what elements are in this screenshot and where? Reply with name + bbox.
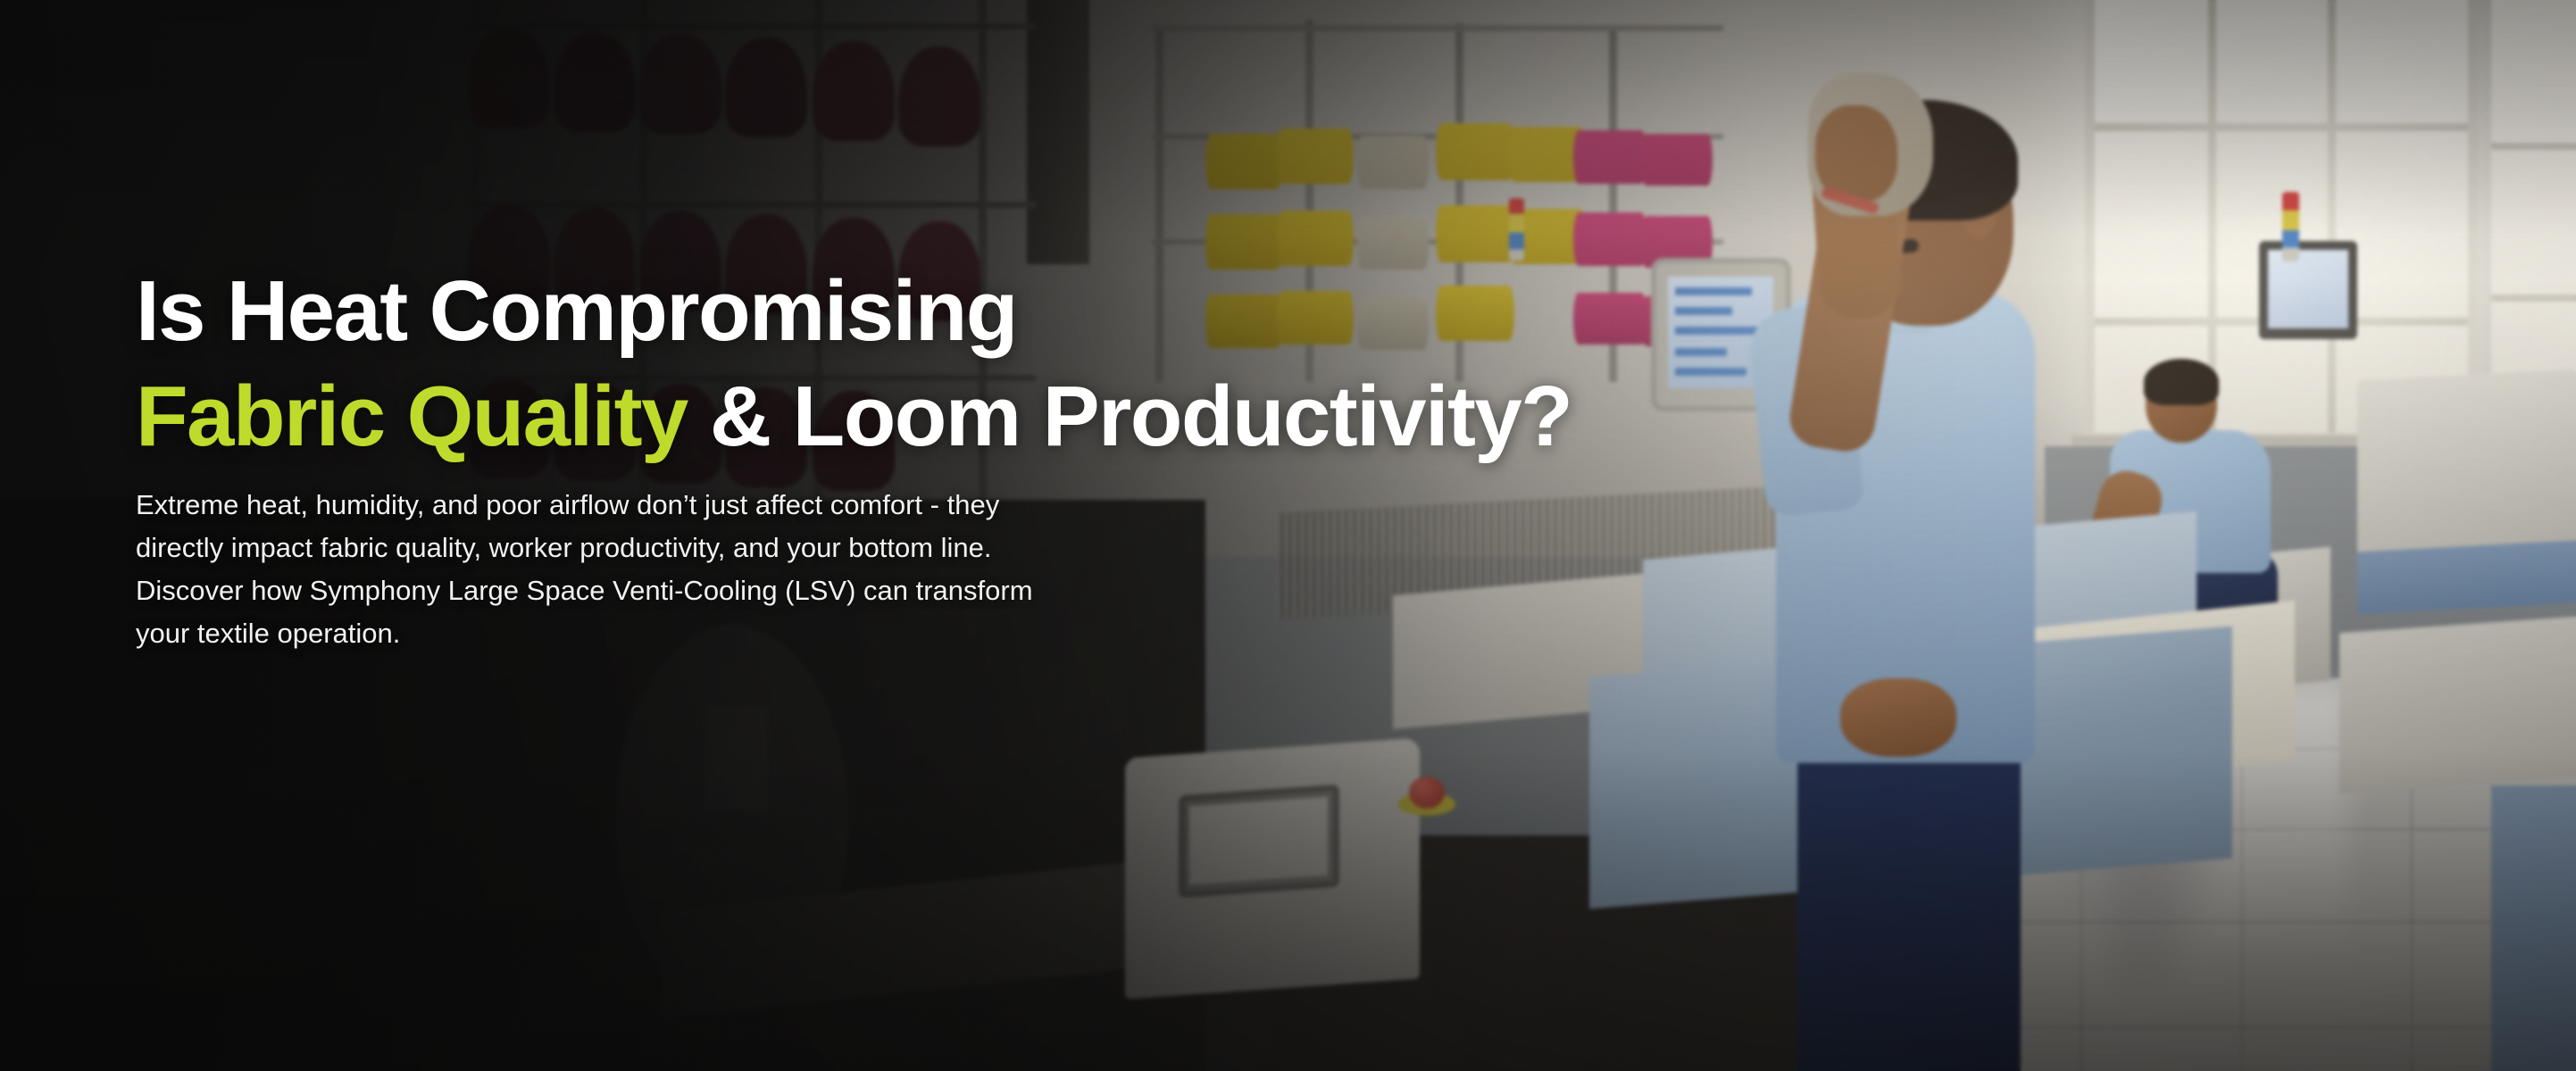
heading-line-1: Is Heat Compromising [136,263,1017,359]
page-title: Is Heat Compromising Fabric Quality & Lo… [136,268,1707,461]
heading-line-2: Fabric Quality & Loom Productivity? [136,373,1707,461]
emergency-stop-button [1409,776,1445,809]
overhead-beam [1027,0,1089,264]
hero-banner: Is Heat Compromising Fabric Quality & Lo… [0,0,2576,1071]
machine-label-plate [705,705,768,812]
loom-touchscreen [1189,797,1328,885]
hero-paragraph: Extreme heat, humidity, and poor airflow… [136,484,1055,655]
background-monitor-screen [2268,250,2348,328]
heading-accent-text: Fabric Quality [136,369,688,464]
hero-copy-block: Is Heat Compromising Fabric Quality & Lo… [136,268,1707,655]
stack-light-indicator [1509,198,1524,261]
right-machine-upper [2357,369,2576,569]
right-machine-lower [2339,617,2576,794]
worker-trousers [1797,741,2021,1071]
worker-resting-hand [1840,678,1956,757]
heading-line-2-rest: & Loom Productivity? [688,369,1571,464]
factory-window-secondary [2491,0,2576,384]
right-machine-edge [2491,785,2576,1071]
sweating-worker [1701,54,2076,1071]
right-machine-blue-base [2357,541,2576,615]
stack-light-indicator-right [2282,192,2299,262]
